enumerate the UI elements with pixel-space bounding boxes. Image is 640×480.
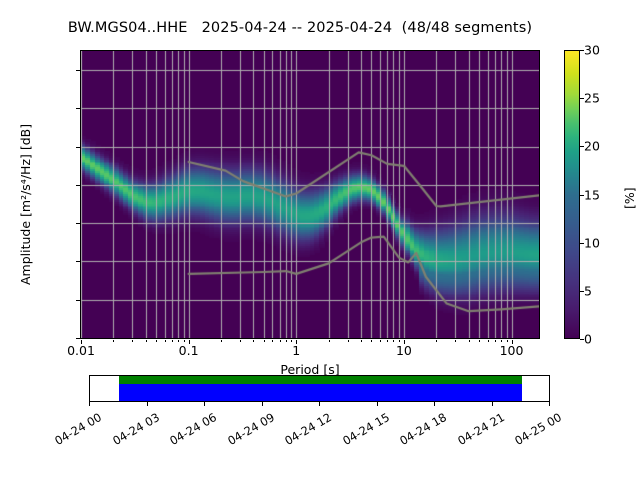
x-tick-mark	[291, 340, 292, 342]
ppsd-axes	[80, 50, 540, 339]
colorbar-tick-label: 0	[584, 332, 592, 347]
x-tick-mark	[253, 340, 254, 342]
x-tick-label: 1	[292, 343, 300, 358]
y-tick-mark	[76, 108, 80, 109]
colorbar-tick-mark	[580, 339, 584, 340]
colorbar-tick-mark	[580, 195, 584, 196]
x-tick-label: 100	[500, 343, 524, 358]
x-tick-mark	[146, 340, 147, 342]
timeline-tick-label: 04-24 18	[394, 410, 449, 450]
colorbar-tick-label: 5	[584, 283, 592, 298]
timeline-tick-label: 04-24 00	[49, 410, 104, 450]
x-tick-mark	[189, 340, 190, 344]
x-tick-mark	[156, 340, 157, 342]
x-tick-mark	[184, 340, 185, 342]
x-tick-mark	[387, 340, 388, 342]
y-tick-mark	[76, 147, 80, 148]
x-tick-mark	[286, 340, 287, 342]
x-tick-mark	[361, 340, 362, 342]
x-tick-mark	[296, 340, 297, 344]
timeline-tick-label: 04-24 03	[106, 410, 161, 450]
x-tick-mark	[240, 340, 241, 342]
timeline-tick-mark	[549, 402, 550, 406]
colorbar-tick-mark	[580, 243, 584, 244]
colorbar-tick-label: 30	[584, 43, 600, 58]
colorbar-tick-mark	[580, 50, 584, 51]
timeline-tick-label: 04-24 09	[221, 410, 276, 450]
timeline-data-coverage	[119, 384, 522, 401]
colorbar-tick-mark	[580, 146, 584, 147]
x-tick-mark	[380, 340, 381, 342]
timeline-tick-mark	[262, 402, 263, 406]
colorbar-tick-mark	[580, 291, 584, 292]
x-tick-label: 0.01	[67, 343, 95, 358]
colorbar-tick-mark	[580, 98, 584, 99]
x-tick-mark	[399, 340, 400, 342]
timeline-tick-label: 04-24 15	[336, 410, 391, 450]
x-tick-label: 10	[396, 343, 412, 358]
x-tick-mark	[469, 340, 470, 342]
timeline-tick-label: 04-24 21	[451, 410, 506, 450]
x-tick-label: 0.1	[179, 343, 199, 358]
colorbar-tick-label: 25	[584, 91, 600, 106]
x-tick-mark	[393, 340, 394, 342]
x-tick-mark	[264, 340, 265, 342]
timeline-psd-coverage	[119, 376, 522, 384]
colorbar-tick-label: 20	[584, 139, 600, 154]
x-tick-mark	[371, 340, 372, 342]
timeline-tick-mark	[89, 402, 90, 406]
colorbar-label: [%]	[622, 187, 637, 209]
x-tick-mark	[488, 340, 489, 342]
y-axis-label: Amplitude [m²/s⁴/Hz] [dB]	[18, 123, 33, 284]
timeline-tick-label: 04-24 12	[279, 410, 334, 450]
x-tick-mark	[436, 340, 437, 342]
noise-model-curves	[81, 51, 539, 338]
figure-title: BW.MGS04..HHE 2025-04-24 -- 2025-04-24 (…	[0, 20, 600, 36]
x-tick-mark	[178, 340, 179, 342]
timeline-tick-mark	[319, 402, 320, 406]
timeline-tick-mark	[434, 402, 435, 406]
x-tick-mark	[280, 340, 281, 342]
timeline-tick-mark	[147, 402, 148, 406]
x-tick-mark	[272, 340, 273, 342]
x-tick-mark	[172, 340, 173, 342]
y-tick-mark	[76, 338, 80, 339]
timeline-tick-label: 04-24 06	[164, 410, 219, 450]
y-tick-mark	[76, 261, 80, 262]
x-tick-mark	[404, 340, 405, 344]
x-tick-mark	[221, 340, 222, 342]
x-tick-mark	[495, 340, 496, 342]
colorbar	[564, 50, 580, 339]
y-tick-mark	[76, 185, 80, 186]
x-tick-mark	[113, 340, 114, 342]
x-tick-mark	[132, 340, 133, 342]
timeline-tick-label: 04-25 00	[509, 410, 564, 450]
x-tick-mark	[501, 340, 502, 342]
x-tick-mark	[81, 340, 82, 344]
y-tick-mark	[76, 300, 80, 301]
x-tick-mark	[165, 340, 166, 342]
colorbar-tick-label: 10	[584, 235, 600, 250]
timeline-tick-mark	[377, 402, 378, 406]
x-tick-mark	[455, 340, 456, 342]
x-tick-mark	[507, 340, 508, 342]
ppsd-figure: BW.MGS04..HHE 2025-04-24 -- 2025-04-24 (…	[0, 0, 640, 480]
x-tick-mark	[348, 340, 349, 342]
coverage-timeline	[89, 375, 550, 402]
y-tick-mark	[76, 70, 80, 71]
timeline-tick-mark	[492, 402, 493, 406]
y-tick-mark	[76, 223, 80, 224]
colorbar-tick-label: 15	[584, 187, 600, 202]
x-tick-mark	[512, 340, 513, 344]
timeline-tick-mark	[204, 402, 205, 406]
x-tick-mark	[479, 340, 480, 342]
x-tick-mark	[329, 340, 330, 342]
